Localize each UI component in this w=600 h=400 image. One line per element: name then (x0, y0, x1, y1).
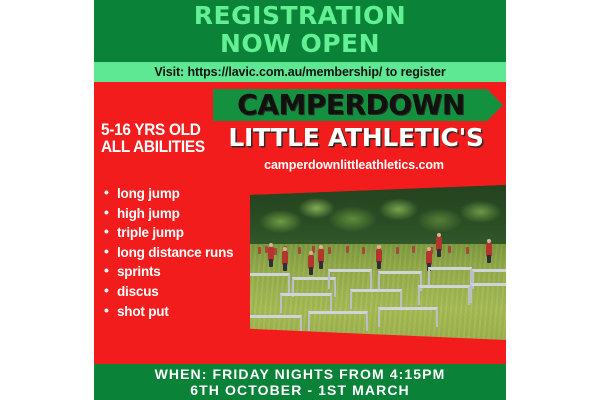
photo-hurdle (328, 269, 372, 289)
registration-url-band[interactable]: Visit: https://lavic.com.au/membership/ … (94, 62, 506, 82)
club-name-camperdown: CAMPERDOWN (213, 90, 489, 120)
poster-flyer: REGISTRATION NOW OPEN Visit: https://lav… (94, 0, 506, 400)
photo-crowd (346, 246, 349, 253)
schedule-season-line: 6TH OCTOBER - 1ST MARCH (94, 382, 506, 399)
eligibility-block: 5-16 YRS OLD ALL ABILITIES (101, 122, 216, 156)
photo-hurdle (350, 289, 402, 309)
club-website-text[interactable]: camperdownlittleathletics.com (206, 158, 502, 172)
photo-runner (318, 249, 324, 263)
photo-runner (426, 251, 432, 265)
photo-crowd (328, 247, 331, 254)
schedule-footer: WHEN: FRIDAY NIGHTS FROM 4:15PM 6TH OCTO… (94, 364, 506, 400)
list-item: discus (102, 282, 316, 302)
photo-crowd (396, 247, 399, 254)
schedule-when-line: WHEN: FRIDAY NIGHTS FROM 4:15PM (94, 366, 506, 383)
photo-runner (376, 249, 382, 263)
list-item: sprints (102, 262, 316, 282)
photo-hurdle (418, 285, 470, 305)
photo-crowd (466, 247, 469, 254)
photo-crowd (362, 247, 365, 254)
photo-runner (436, 237, 442, 251)
photo-hurdle (308, 311, 368, 331)
list-item: high jump (102, 204, 316, 224)
list-item: shot put (102, 302, 316, 322)
photo-crowd (412, 246, 415, 253)
photo-hurdle (378, 271, 422, 291)
eligibility-age-line: 5-16 YRS OLD (101, 122, 216, 139)
eligibility-abilities-line: ALL ABILITIES (101, 139, 216, 156)
registration-header: REGISTRATION NOW OPEN (94, 0, 506, 62)
registration-url-text[interactable]: Visit: https://lavic.com.au/membership/ … (154, 65, 445, 79)
club-name-little-athletics: LITTLE ATHLETIC'S (206, 124, 506, 152)
photo-runner (486, 243, 492, 257)
header-line-registration: REGISTRATION (94, 2, 506, 30)
header-line-now-open: NOW OPEN (94, 30, 506, 58)
list-item: long distance runs (102, 243, 316, 263)
photo-hurdle (378, 307, 438, 327)
photo-hurdle (470, 283, 506, 303)
list-item: long jump (102, 184, 316, 204)
photo-hurdle (428, 267, 472, 287)
photo-crowd (448, 246, 451, 253)
list-item: triple jump (102, 223, 316, 243)
main-red-panel: CAMPERDOWN LITTLE ATHLETIC'S camperdownl… (94, 82, 506, 364)
